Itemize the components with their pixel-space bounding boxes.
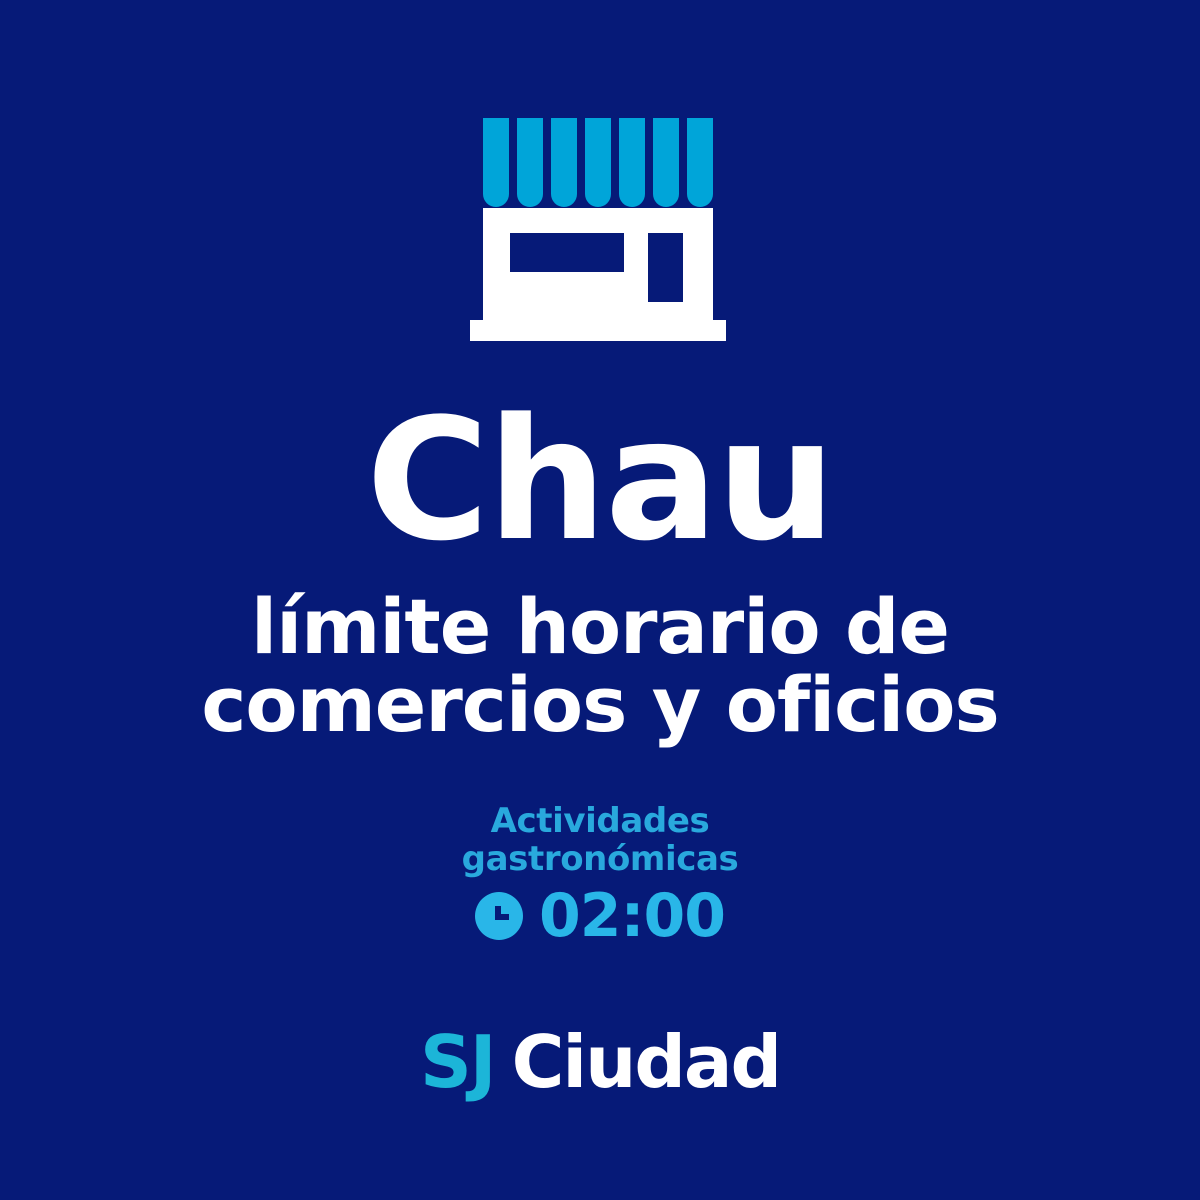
subheadline: límite horario de comercios y oficios xyxy=(0,588,1200,743)
subheadline-line-2: comercios y oficios xyxy=(0,666,1200,744)
headline: Chau xyxy=(0,398,1200,563)
brand-name: Ciudad xyxy=(512,1026,780,1098)
category-line-2: gastronómicas xyxy=(0,840,1200,878)
shop-base xyxy=(470,320,726,341)
category-line-1: Actividades xyxy=(0,802,1200,840)
category-label: Actividades gastronómicas xyxy=(0,802,1200,878)
brand-lockup: SJ Ciudad xyxy=(0,1026,1200,1098)
shop-door xyxy=(648,233,683,302)
time-value: 02:00 xyxy=(539,886,725,946)
subheadline-line-1: límite horario de xyxy=(0,588,1200,666)
storefront-icon xyxy=(469,118,731,343)
awning-stripes xyxy=(483,118,713,207)
brand-mark: SJ xyxy=(420,1026,495,1098)
poster-canvas: Chau límite horario de comercios y ofici… xyxy=(0,0,1200,1200)
shop-window xyxy=(510,233,624,272)
storefront-icon-wrap xyxy=(0,118,1200,348)
time-row: 02:00 xyxy=(0,886,1200,946)
clock-icon xyxy=(475,892,523,940)
